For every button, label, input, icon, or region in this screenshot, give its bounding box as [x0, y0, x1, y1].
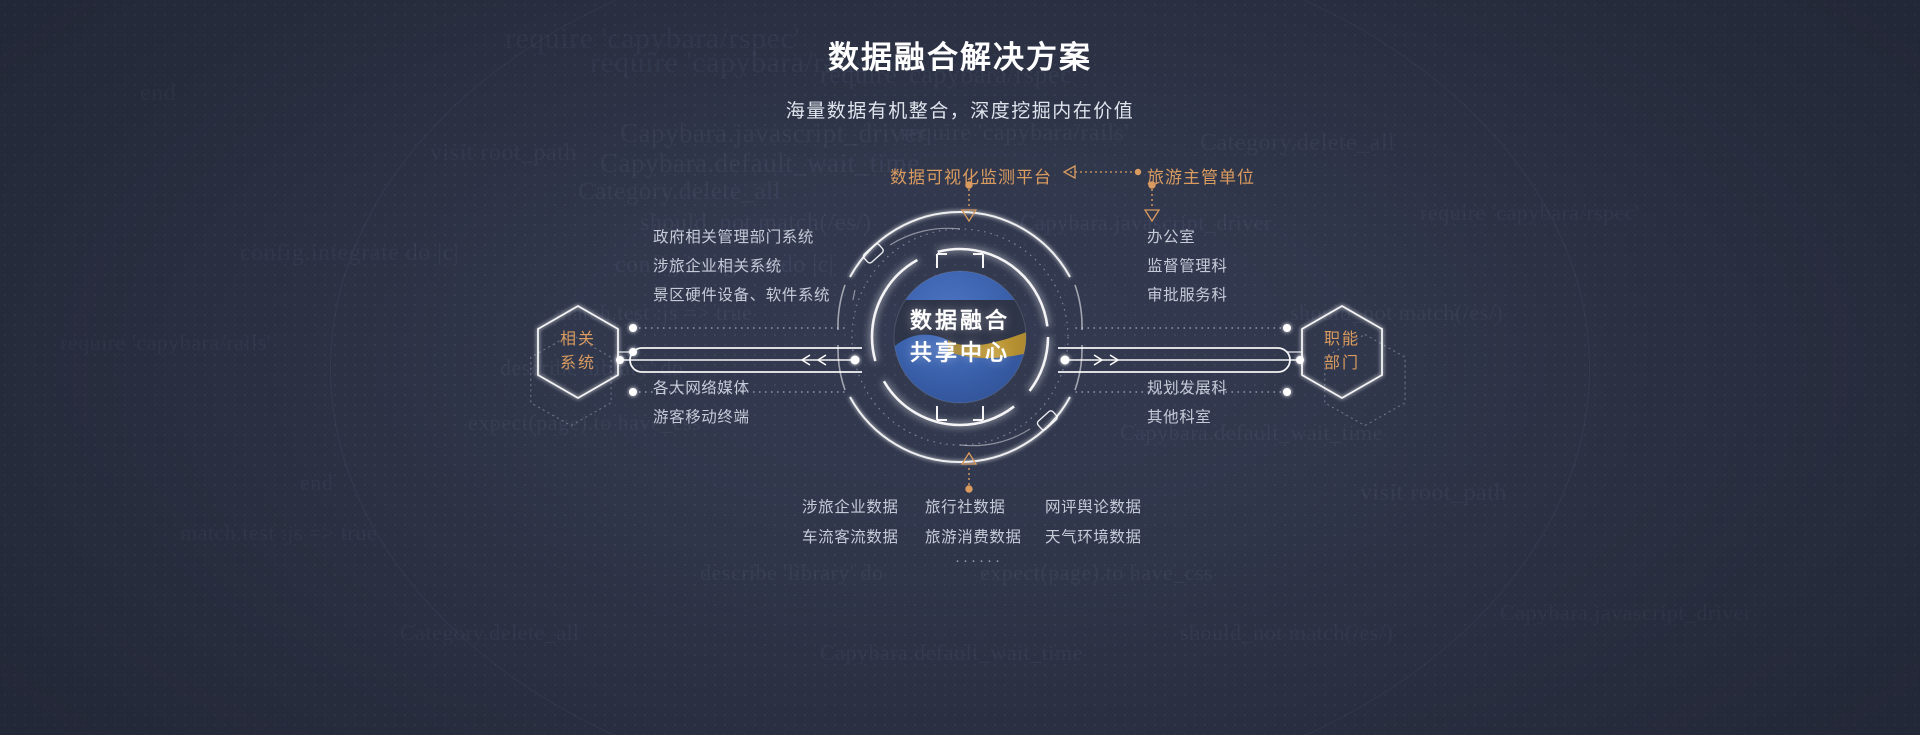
- core-label-line2: 共享中心: [910, 337, 1010, 369]
- hexagon-right-line1: 职能: [1324, 328, 1360, 352]
- label-bottom-data-4[interactable]: 旅游消费数据: [925, 525, 1022, 547]
- header: 数据融合解决方案 海量数据有机整合，深度挖掘内在价值: [0, 38, 1920, 123]
- hexagon-right-line2: 部门: [1324, 352, 1360, 376]
- label-left-source-0[interactable]: 政府相关管理部门系统: [653, 225, 814, 247]
- hexagon-left-line1: 相关: [560, 328, 596, 352]
- label-visualization-platform[interactable]: 数据可视化监测平台: [890, 163, 1052, 188]
- hexagon-left-line2: 系统: [560, 352, 596, 376]
- label-left-source-3[interactable]: 各大网络媒体: [653, 376, 750, 398]
- hexagon-right-label[interactable]: 职能 部门: [1324, 328, 1360, 376]
- page-title: 数据融合解决方案: [0, 38, 1920, 78]
- label-bottom-data-5[interactable]: 天气环境数据: [1045, 525, 1142, 547]
- core-label: 数据融合 共享中心: [910, 305, 1010, 369]
- label-right-dept-0[interactable]: 办公室: [1147, 225, 1195, 247]
- label-bottom-data-1[interactable]: 旅行社数据: [925, 495, 1006, 517]
- label-right-dept-2[interactable]: 审批服务科: [1147, 283, 1228, 305]
- label-left-source-4[interactable]: 游客移动终端: [653, 405, 750, 427]
- label-left-source-2[interactable]: 景区硬件设备、软件系统: [653, 283, 830, 305]
- label-right-dept-1[interactable]: 监督管理科: [1147, 254, 1228, 276]
- label-tourism-authority[interactable]: 旅游主管单位: [1147, 163, 1255, 188]
- core-label-line1: 数据融合: [910, 305, 1010, 337]
- label-right-dept-3[interactable]: 规划发展科: [1147, 376, 1228, 398]
- label-right-dept-4[interactable]: 其他科室: [1147, 405, 1211, 427]
- label-bottom-data-more: ······: [955, 552, 1003, 569]
- page-subtitle: 海量数据有机整合，深度挖掘内在价值: [0, 96, 1920, 123]
- top-dotted-arrow: [1064, 166, 1141, 178]
- label-bottom-data-3[interactable]: 车流客流数据: [802, 525, 899, 547]
- label-left-source-1[interactable]: 涉旅企业相关系统: [653, 254, 782, 276]
- label-bottom-data-0[interactable]: 涉旅企业数据: [802, 495, 899, 517]
- label-bottom-data-2[interactable]: 网评舆论数据: [1045, 495, 1142, 517]
- hexagon-left-label[interactable]: 相关 系统: [560, 328, 596, 376]
